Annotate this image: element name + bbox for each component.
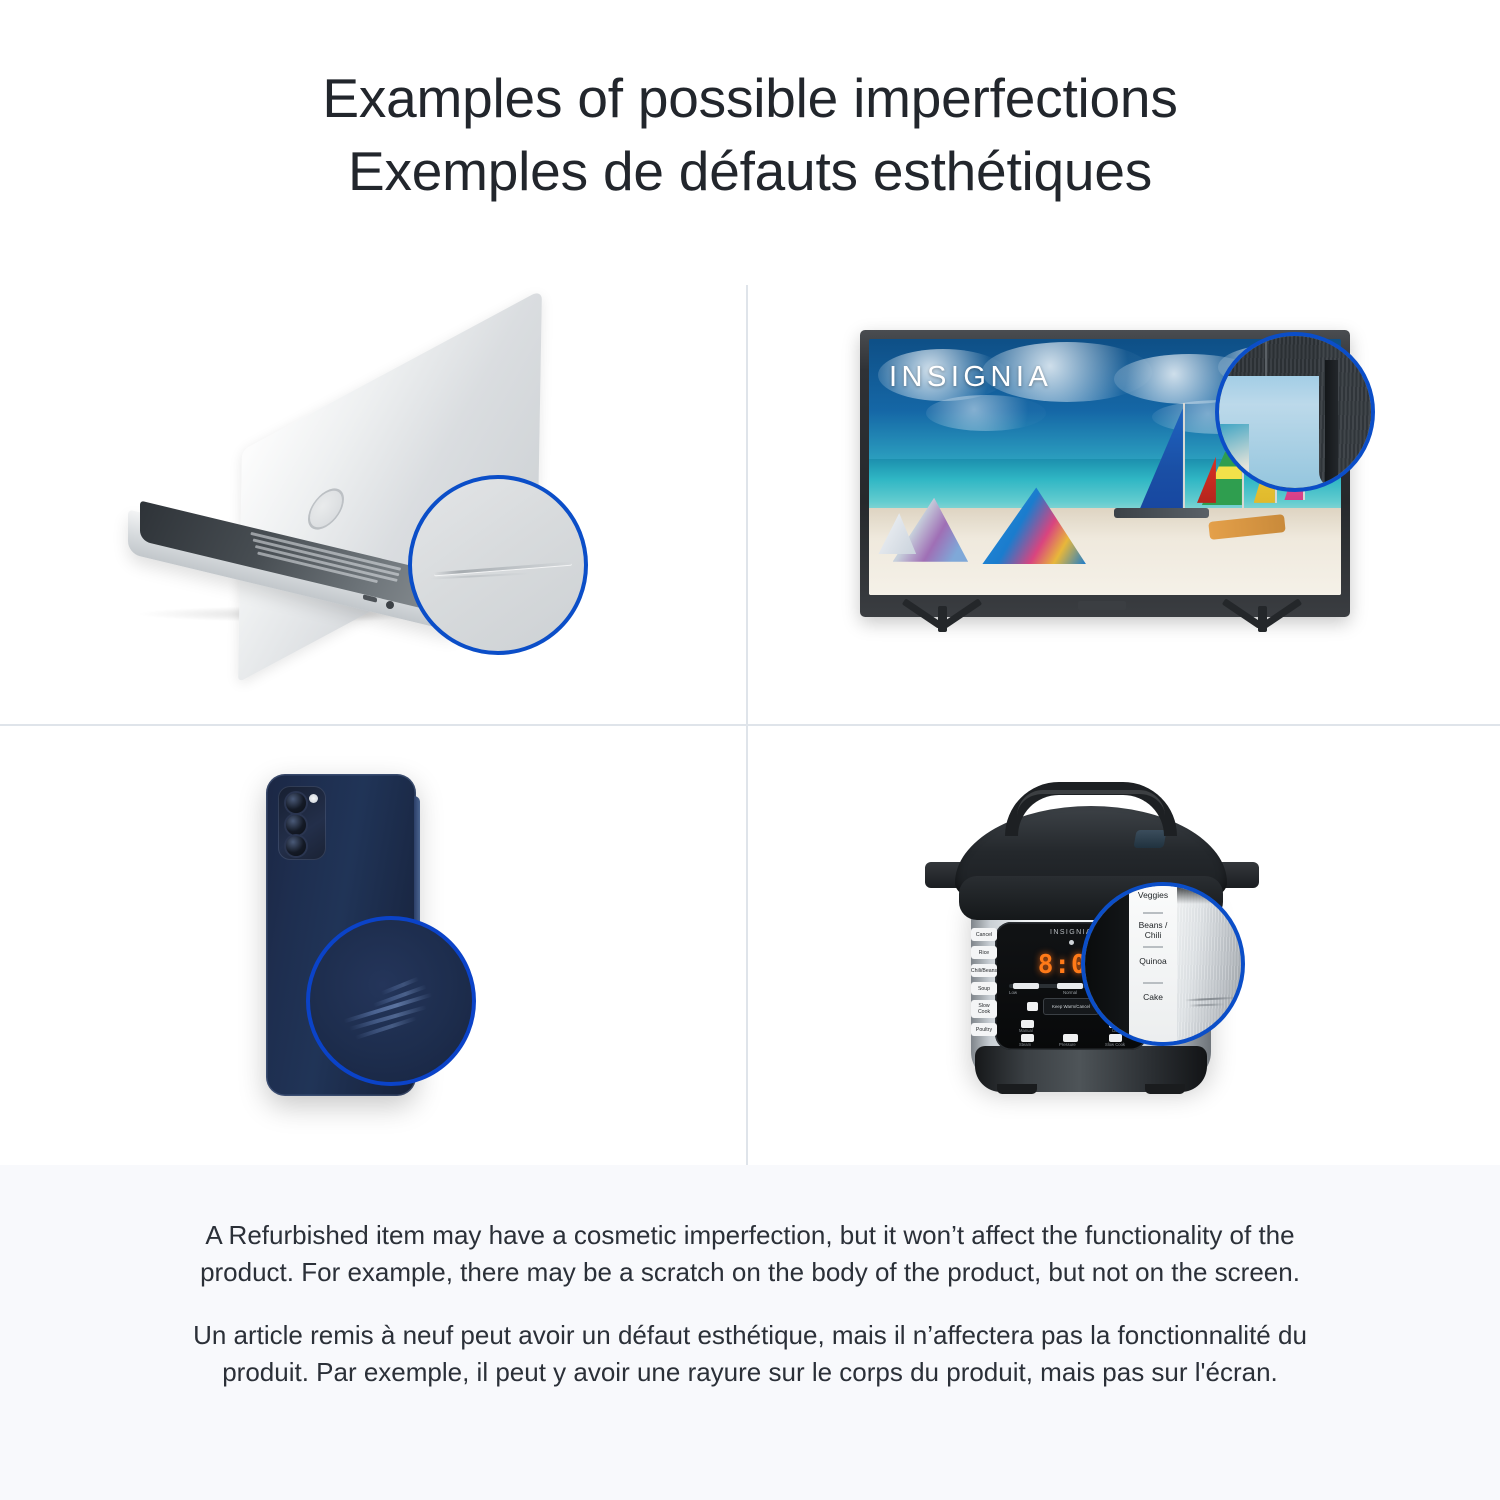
cooker-mode-low: Low <box>1009 990 1017 995</box>
magnified-label-veggies: Veggies <box>1131 890 1175 900</box>
cooker-label-steam: Steam <box>1019 1042 1031 1047</box>
tv-brand-plate <box>1078 601 1126 610</box>
infographic-page: Examples of possible imperfections Exemp… <box>0 0 1500 1500</box>
cooker-button-cancel[interactable]: Cancel <box>971 928 997 941</box>
cooker-button-poultry[interactable]: Poultry <box>971 1023 997 1036</box>
cooker-status-led-icon <box>1069 940 1074 945</box>
footer-disclaimer: A Refurbished item may have a cosmetic i… <box>0 1165 1500 1500</box>
magnified-label-cake: Cake <box>1131 992 1175 1002</box>
cooker-steam-button[interactable] <box>1021 1034 1034 1042</box>
cooker-foot <box>1145 1084 1185 1094</box>
smartphone-camera-module <box>278 786 326 860</box>
television-illustration: INSIGNIA <box>860 330 1365 690</box>
smartphone-illustration <box>248 756 518 1136</box>
tv-stand-left <box>900 610 986 666</box>
quadrant-television: INSIGNIA <box>748 285 1500 726</box>
magnified-brushed-steel <box>1177 886 1245 1042</box>
cooker-button-slow-cook[interactable]: Slow Cook <box>971 1000 997 1018</box>
magnifier-tv-bezel-corner <box>1215 332 1375 492</box>
pressure-cooker-illustration: INSIGNIA 8:00 Low Normal More <box>913 754 1293 1134</box>
disclaimer-english: A Refurbished item may have a cosmetic i… <box>180 1217 1320 1291</box>
title-french: Exemples de défauts esthétiques <box>0 135 1500 208</box>
cooker-manual-button[interactable] <box>1021 1020 1034 1028</box>
magnifier-phone-scratches <box>306 916 476 1086</box>
magnified-label-beans-chili: Beans / Chili <box>1131 920 1175 940</box>
magnifier-cooker-scratch: Veggies Beans / Chili Quinoa Cake <box>1081 882 1245 1046</box>
camera-lens-icon <box>286 836 306 856</box>
magnified-lid-shadow <box>1177 886 1245 904</box>
cooker-button-rice[interactable]: Rice <box>971 946 997 959</box>
cooker-mode-normal: Normal <box>1063 990 1077 995</box>
cooker-button-soup[interactable]: Soup <box>971 982 997 995</box>
page-title: Examples of possible imperfections Exemp… <box>0 0 1500 208</box>
laptop-audio-port <box>386 601 394 609</box>
laptop-illustration <box>120 363 590 653</box>
quadrant-smartphone <box>0 726 748 1165</box>
cooker-pressure-button[interactable] <box>1063 1034 1078 1042</box>
magnified-label-quinoa: Quinoa <box>1131 956 1175 966</box>
quadrant-laptop <box>0 285 748 726</box>
tv-screen-brand-logo: INSIGNIA <box>889 361 1052 394</box>
camera-lens-icon <box>286 793 306 813</box>
cooker-handle-highlight <box>1017 790 1165 816</box>
cooker-left-button-column: Cancel Rice Chili/Beans Soup Slow Cook P… <box>971 928 997 1041</box>
cooker-button-chili-beans[interactable]: Chili/Beans <box>971 964 997 977</box>
tv-stand-right <box>1220 610 1306 666</box>
product-examples-grid: INSIGNIA <box>0 285 1500 1165</box>
cooker-label-slowcook: Slow Cook <box>1105 1042 1125 1047</box>
cooker-foot <box>997 1084 1037 1094</box>
magnifier-laptop-scratch <box>408 475 588 655</box>
cooker-label-manual: Manual <box>1019 1028 1033 1033</box>
camera-flash-icon <box>309 794 318 803</box>
disclaimer-french: Un article remis à neuf peut avoir un dé… <box>180 1317 1320 1391</box>
title-english: Examples of possible imperfections <box>0 62 1500 135</box>
camera-lens-icon <box>286 815 306 835</box>
quadrant-pressure-cooker: INSIGNIA 8:00 Low Normal More <box>748 726 1500 1165</box>
cooker-label-pressure: Pressure <box>1059 1042 1076 1047</box>
cooker-minus-button[interactable] <box>1027 1002 1038 1011</box>
